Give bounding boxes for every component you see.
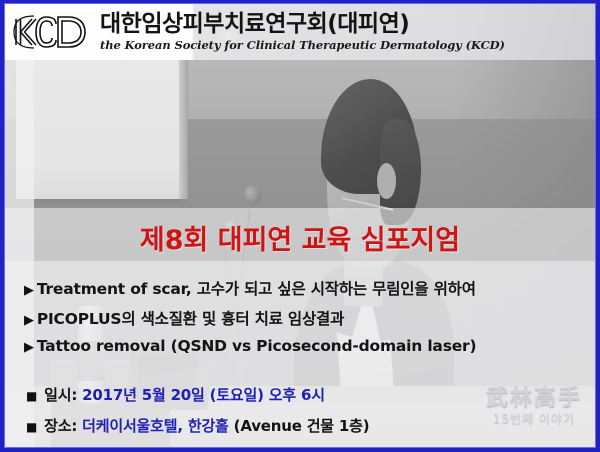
- series-watermark-title: 武林高手: [486, 386, 582, 411]
- triangle-bullet-icon: ▶: [24, 314, 34, 327]
- series-watermark: 武林高手 15번째 이야기: [486, 386, 582, 427]
- session-topic: PICOPLUS의 색소질환 및 흉터 치료 임상결과: [37, 307, 344, 329]
- list-item: ▶ Treatment of scar, 고수가 되고 싶은 시작하는 무림인을…: [24, 277, 584, 307]
- poster-content: 제8회 대피연 교육 심포지엄 ▶ Treatment of scar, 고수가…: [4, 3, 596, 448]
- session-topic: Tattoo removal (QSND vs Picosecond-domai…: [37, 337, 477, 355]
- list-item: ▶ Tattoo removal (QSND vs Picosecond-dom…: [24, 337, 584, 367]
- page-title: 제8회 대피연 교육 심포지엄: [4, 225, 596, 257]
- square-bullet-icon: ■: [26, 390, 37, 402]
- symposium-poster: 대한임상피부치료연구회(대피연) the Korean Society for …: [0, 0, 600, 452]
- session-topic: Treatment of scar, 고수가 되고 싶은 시작하는 무림인을 위…: [37, 277, 476, 299]
- event-venue-note: (Avenue 건물 1층): [234, 415, 370, 436]
- square-bullet-icon: ■: [26, 421, 37, 433]
- triangle-bullet-icon: ▶: [24, 284, 34, 297]
- event-venue-value: 더케이서울호텔, 한강홀: [82, 415, 229, 436]
- triangle-bullet-icon: ▶: [24, 341, 34, 354]
- list-item: ▶ PICOPLUS의 색소질환 및 흉터 치료 임상결과: [24, 307, 584, 337]
- event-date-value: 2017년 5월 20일 (토요일) 오후 6시: [82, 384, 325, 405]
- series-watermark-subtitle: 15번째 이야기: [486, 411, 582, 427]
- event-venue-label: 장소:: [44, 415, 77, 436]
- event-date-label: 일시:: [44, 384, 77, 405]
- session-list: ▶ Treatment of scar, 고수가 되고 싶은 시작하는 무림인을…: [24, 277, 584, 367]
